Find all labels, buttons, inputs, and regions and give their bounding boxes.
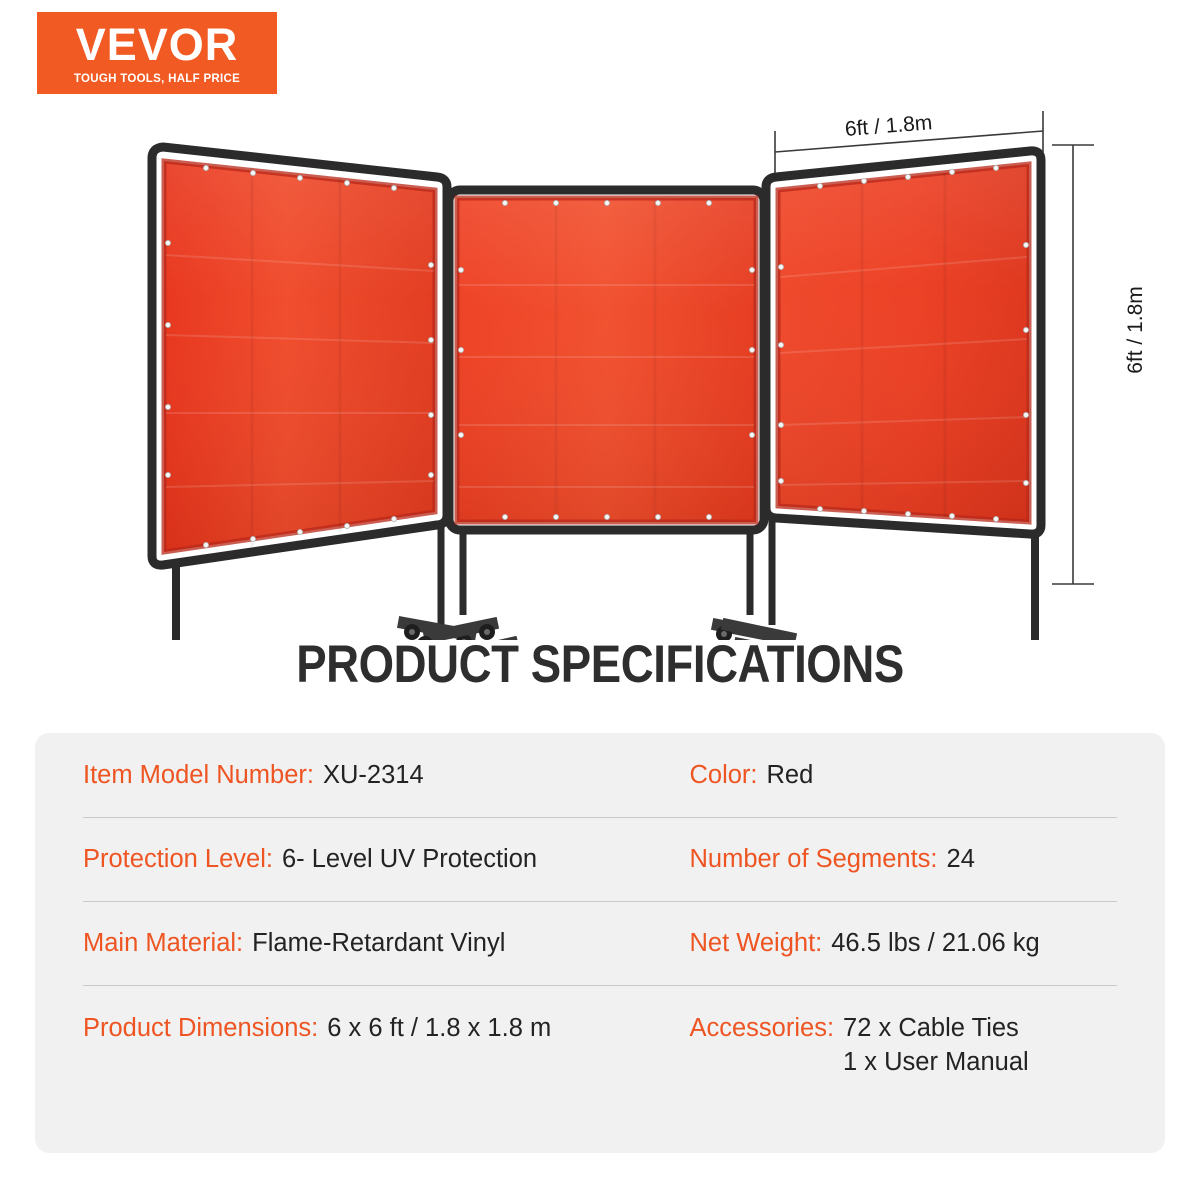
spec-label: Product Dimensions: xyxy=(83,1011,318,1045)
table-row: Product Dimensions: 6 x 6 ft / 1.8 x 1.8… xyxy=(83,985,1117,1085)
spec-value: 46.5 lbs / 21.06 kg xyxy=(831,926,1039,960)
spec-label: Main Material: xyxy=(83,926,243,960)
spec-number-of-segments: Number of Segments: 24 xyxy=(689,842,1117,876)
table-row: Protection Level: 6- Level UV Protection… xyxy=(83,817,1117,901)
spec-label: Number of Segments: xyxy=(689,842,937,876)
table-row: Main Material: Flame-Retardant Vinyl Net… xyxy=(83,901,1117,985)
dimension-height-label: 6ft / 1.8m xyxy=(1124,286,1148,374)
spec-product-dimensions: Product Dimensions: 6 x 6 ft / 1.8 x 1.8… xyxy=(83,1011,689,1045)
spec-value: 24 xyxy=(947,842,975,876)
spec-label: Item Model Number: xyxy=(83,758,314,792)
spec-label: Net Weight: xyxy=(689,926,822,960)
spec-main-material: Main Material: Flame-Retardant Vinyl xyxy=(83,926,689,960)
table-row: Item Model Number: XU-2314 Color: Red xyxy=(83,733,1117,817)
page-title: PRODUCT SPECIFICATIONS xyxy=(84,634,1116,695)
specifications-table: Item Model Number: XU-2314 Color: Red Pr… xyxy=(35,733,1165,1153)
spec-color: Color: Red xyxy=(689,758,1117,792)
spec-label: Color: xyxy=(689,758,757,792)
spec-value: Flame-Retardant Vinyl xyxy=(252,926,505,960)
spec-value-line-2: 1 x User Manual xyxy=(843,1045,1029,1079)
spec-protection-level: Protection Level: 6- Level UV Protection xyxy=(83,842,689,876)
spec-value: 72 x Cable Ties 1 x User Manual xyxy=(843,1011,1029,1080)
screen-panel-left xyxy=(113,147,472,640)
brand-name: VEVOR xyxy=(76,22,239,67)
brand-logo: VEVOR TOUGH TOOLS, HALF PRICE xyxy=(37,12,277,94)
product-image xyxy=(0,95,1200,640)
spec-value-line-1: 72 x Cable Ties xyxy=(843,1011,1029,1045)
spec-label: Accessories: xyxy=(689,1011,834,1045)
spec-accessories: Accessories: 72 x Cable Ties 1 x User Ma… xyxy=(689,1011,1117,1080)
spec-value: Red xyxy=(767,758,814,792)
spec-value: 6 x 6 ft / 1.8 x 1.8 m xyxy=(327,1011,551,1045)
brand-tagline: TOUGH TOOLS, HALF PRICE xyxy=(74,73,240,85)
screen-panel-center xyxy=(417,190,813,640)
spec-net-weight: Net Weight: 46.5 lbs / 21.06 kg xyxy=(689,926,1117,960)
spec-value: XU-2314 xyxy=(323,758,424,792)
spec-value: 6- Level UV Protection xyxy=(282,842,537,876)
spec-item-model-number: Item Model Number: XU-2314 xyxy=(83,758,689,792)
spec-label: Protection Level: xyxy=(83,842,273,876)
screen-panel-right xyxy=(728,151,1098,640)
